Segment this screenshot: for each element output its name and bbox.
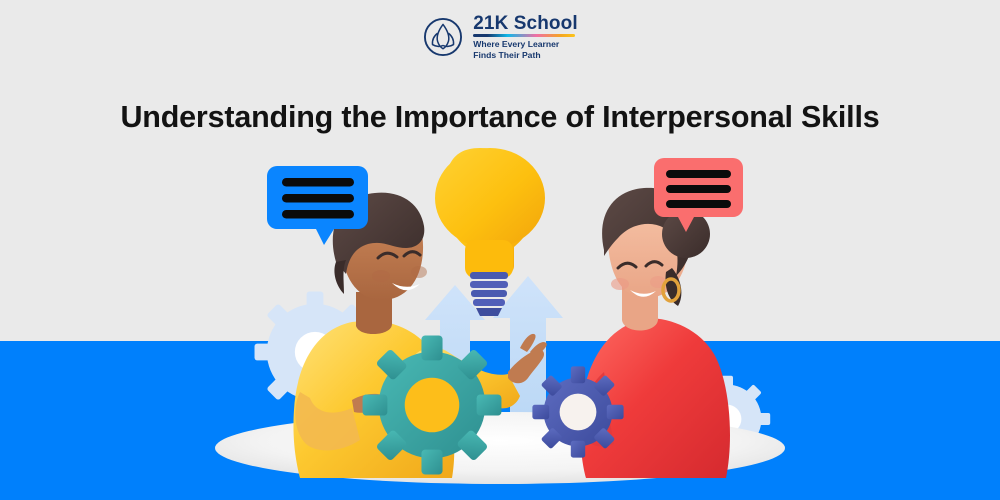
gear-navy-hub [560,394,597,431]
gear-navy-small[interactable] [532,366,623,457]
bubble-line-1 [282,178,354,187]
bubble-line-3 [282,210,354,219]
gear-teal-large[interactable] [363,336,502,475]
hero-illustration [0,0,1000,500]
article-banner: 21K School Where Every Learner Finds The… [0,0,1000,500]
bubble-line-2 [282,194,354,203]
bubble-line-3 [666,200,731,208]
bubble-line-2 [666,185,731,193]
bubble-line-1 [666,170,731,178]
gear-teal-hub [405,378,460,433]
